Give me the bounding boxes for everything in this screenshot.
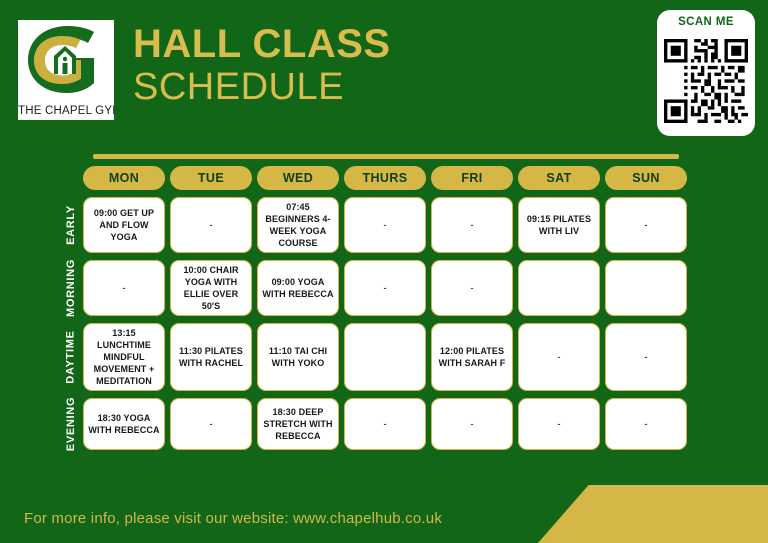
class-cell[interactable]: 09:15 PILATES WITH LIV [518, 197, 600, 253]
row-label-morning-text: MORNING [65, 259, 77, 317]
row-label-morning: MORNING [63, 260, 79, 316]
day-header-tue[interactable]: TUE [170, 166, 252, 190]
class-cell[interactable]: 11:30 PILATES WITH RACHEL [170, 323, 252, 391]
class-cell[interactable]: 12:00 PILATES WITH SARAH F [431, 323, 513, 391]
qr-panel[interactable]: SCAN ME [657, 10, 755, 136]
row-label-early: EARLY [63, 197, 79, 253]
class-cell[interactable]: 07:45 BEGINNERS 4-WEEK YOGA COURSE [257, 197, 339, 253]
footer-website-text[interactable]: For more info, please visit our website:… [24, 510, 442, 527]
class-cell[interactable]: - [431, 398, 513, 450]
scan-me-label: SCAN ME [661, 14, 751, 31]
day-header-row: MON TUE WED THURS FRI SAT SUN [83, 166, 687, 190]
class-cell[interactable]: - [344, 398, 426, 450]
footer-accent-shape [538, 485, 768, 543]
class-cell[interactable]: - [518, 323, 600, 391]
header-divider [93, 154, 679, 159]
class-cell[interactable]: 18:30 YOGA WITH REBECCA [83, 398, 165, 450]
class-cell[interactable]: - [344, 260, 426, 316]
class-cell[interactable] [605, 260, 687, 316]
title-line-1: HALL CLASS [133, 22, 391, 66]
schedule-row-evening: EVENING 18:30 YOGA WITH REBECCA - 18:30 … [83, 398, 687, 450]
class-cell[interactable]: - [170, 398, 252, 450]
day-header-mon[interactable]: MON [83, 166, 165, 190]
row-label-evening: EVENING [63, 398, 79, 450]
class-cell[interactable] [344, 323, 426, 391]
chapel-gym-logo-icon [18, 22, 114, 96]
schedule-row-morning: MORNING - 10:00 CHAIR YOGA WITH ELLIE OV… [83, 260, 687, 316]
day-header-wed[interactable]: WED [257, 166, 339, 190]
row-label-daytime-text: DAYTIME [65, 330, 77, 383]
class-cell[interactable]: - [431, 260, 513, 316]
qr-code-icon[interactable] [664, 39, 748, 123]
class-cell[interactable]: 09:00 YOGA WITH REBECCA [257, 260, 339, 316]
schedule-grid: MON TUE WED THURS FRI SAT SUN EARLY 09:0… [83, 166, 687, 457]
schedule-row-daytime: DAYTIME 13:15 LUNCHTIME MINDFUL MOVEMENT… [83, 323, 687, 391]
class-cell[interactable]: - [170, 197, 252, 253]
class-cell[interactable]: 13:15 LUNCHTIME MINDFUL MOVEMENT + MEDIT… [83, 323, 165, 391]
qr-frame [661, 31, 751, 131]
class-cell[interactable]: 10:00 CHAIR YOGA WITH ELLIE OVER 50'S [170, 260, 252, 316]
day-header-fri[interactable]: FRI [431, 166, 513, 190]
schedule-row-early: EARLY 09:00 GET UP AND FLOW YOGA - 07:45… [83, 197, 687, 253]
row-label-daytime: DAYTIME [63, 323, 79, 391]
row-label-early-text: EARLY [65, 205, 77, 245]
title-line-2: SCHEDULE [133, 66, 391, 108]
day-header-thurs[interactable]: THURS [344, 166, 426, 190]
day-header-sun[interactable]: SUN [605, 166, 687, 190]
page-header: THE CHAPEL GYM HALL CLASS SCHEDULE SCAN … [0, 0, 768, 150]
logo-wordmark: THE CHAPEL GYM [18, 105, 114, 117]
class-cell[interactable]: 09:00 GET UP AND FLOW YOGA [83, 197, 165, 253]
class-cell[interactable] [518, 260, 600, 316]
row-label-evening-text: EVENING [65, 397, 77, 451]
day-header-sat[interactable]: SAT [518, 166, 600, 190]
page-title: HALL CLASS SCHEDULE [133, 22, 391, 108]
class-cell[interactable]: 18:30 DEEP STRETCH WITH REBECCA [257, 398, 339, 450]
class-cell[interactable]: - [344, 197, 426, 253]
class-cell[interactable]: - [605, 398, 687, 450]
class-cell[interactable]: - [518, 398, 600, 450]
class-cell[interactable]: 11:10 TAI CHI WITH YOKO [257, 323, 339, 391]
class-cell[interactable]: - [605, 323, 687, 391]
logo: THE CHAPEL GYM [18, 20, 114, 120]
class-cell[interactable]: - [605, 197, 687, 253]
class-cell[interactable]: - [431, 197, 513, 253]
class-cell[interactable]: - [83, 260, 165, 316]
